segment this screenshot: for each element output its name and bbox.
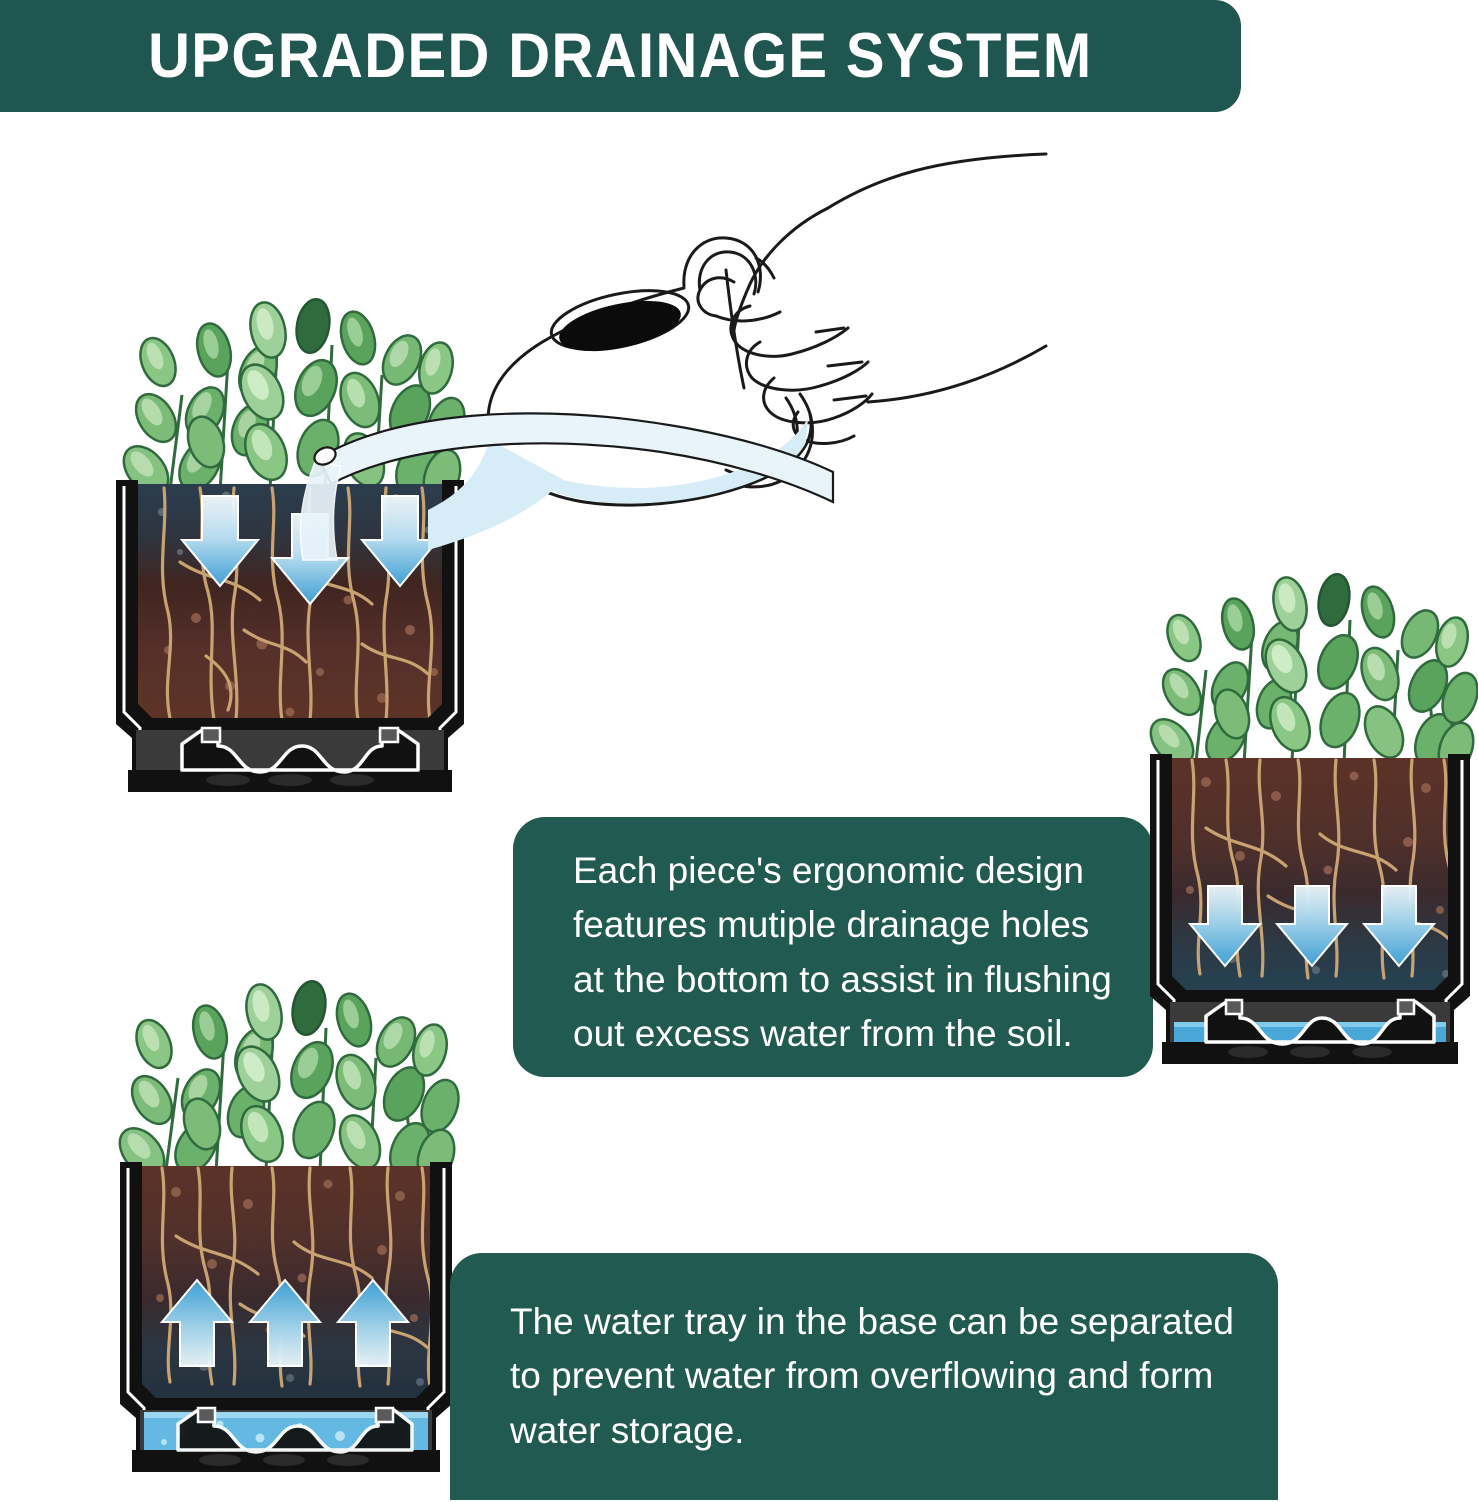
plant-foliage [1142,572,1478,778]
title-banner: UPGRADED DRAINAGE SYSTEM [0,0,1241,112]
watering-can-spout-opening [555,292,685,361]
callout-2-line-3: water storage. [510,1404,1248,1458]
water-direction-arrows-up [162,1280,408,1366]
callout-2-line-2: to prevent water from overflowing and fo… [510,1349,1248,1403]
water-direction-arrows-down [1190,886,1434,966]
page-title: UPGRADED DRAINAGE SYSTEM [148,25,1092,88]
callout-1-line-2: features mutiple drainage holes [573,898,1119,952]
pot-cross-section [120,1162,452,1472]
callout-drainage-holes: Each piece's ergonomic design features m… [513,817,1153,1077]
plant-foliage [111,979,465,1187]
callout-1-line-1: Each piece's ergonomic design [573,844,1119,898]
pot-cross-section [1150,754,1470,1064]
pouring-water-stream [275,400,835,600]
callout-1-line-4: out excess water from the soil. [573,1007,1119,1061]
callout-1-line-3: at the bottom to assist in flushing [573,953,1119,1007]
callout-water-tray: The water tray in the base can be separa… [450,1253,1278,1500]
planter-illustration-draining [1140,570,1478,1105]
callout-2-line-1: The water tray in the base can be separa… [510,1295,1248,1349]
planter-illustration-water-storage [108,980,464,1502]
